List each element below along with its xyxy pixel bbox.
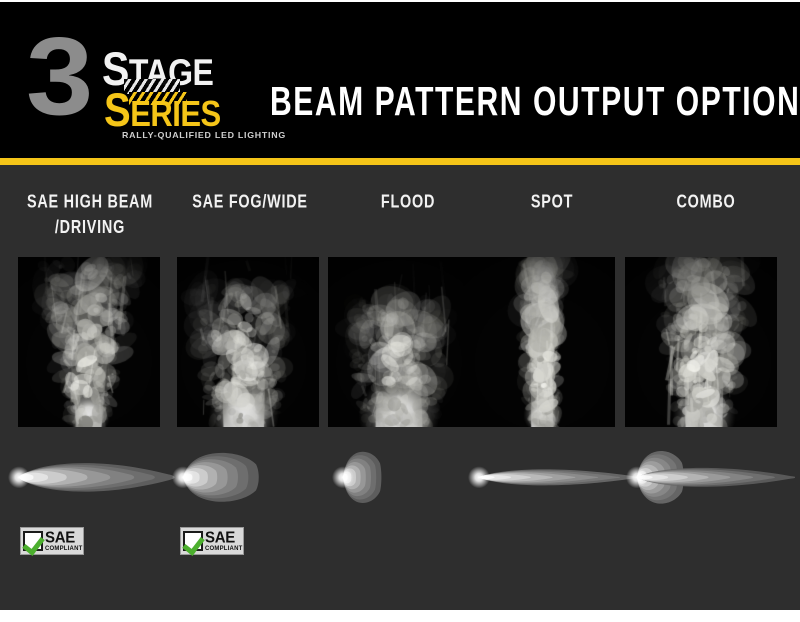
column-label: SAE FOG/WIDE	[173, 189, 327, 215]
checkmark-icon	[183, 531, 203, 551]
beam-pattern-diagram	[466, 443, 641, 509]
column-label: SAE HIGH BEAM/DRIVING	[13, 189, 167, 240]
logo-word-series: SERIES	[104, 87, 221, 134]
yellow-divider	[0, 158, 800, 165]
beam-column-sae-high-beam-driving: SAE HIGH BEAM/DRIVING SAE COMPLIANT	[10, 165, 170, 610]
body-area: SAE HIGH BEAM/DRIVING SAE COMPLIANT SAE …	[0, 165, 800, 610]
beam-column-combo: COMBO	[626, 165, 786, 610]
column-label: SPOT	[475, 189, 629, 215]
page-title: BEAM PATTERN OUTPUT OPTIONS	[270, 78, 774, 126]
sae-compliant-badge: SAE COMPLIANT	[180, 527, 244, 555]
sae-badge-text: SAE COMPLIANT	[205, 530, 242, 552]
sae-badge-subtitle: COMPLIANT	[205, 546, 242, 552]
beam-pattern-diagram	[4, 443, 179, 509]
beam-photo-thumbnail	[328, 257, 470, 427]
sae-badge-subtitle: COMPLIANT	[45, 546, 82, 552]
column-label: COMBO	[629, 189, 783, 215]
beam-pattern-diagram	[164, 443, 339, 509]
beam-photo-thumbnail	[463, 257, 615, 427]
column-label: FLOOD	[331, 189, 485, 215]
beam-photo-thumbnail	[625, 257, 777, 427]
beam-column-sae-fog-wide: SAE FOG/WIDE SAE COMPLIANT	[170, 165, 330, 610]
logo-tagline: RALLY-QUALIFIED LED LIGHTING	[122, 130, 286, 140]
logo-wordmark: STAGE SERIES RALLY-QUALIFIED LED LIGHTIN…	[102, 46, 252, 138]
sae-badge-title: SAE	[45, 530, 82, 546]
sae-badge-title: SAE	[205, 530, 242, 546]
sae-compliant-badge: SAE COMPLIANT	[20, 527, 84, 555]
header-band: 3 STAGE SERIES RALLY-QUALIFIED LED LIGHT…	[0, 2, 800, 158]
beam-columns: SAE HIGH BEAM/DRIVING SAE COMPLIANT SAE …	[0, 165, 800, 610]
beam-photo-thumbnail	[18, 257, 160, 427]
beam-pattern-diagram	[620, 443, 795, 509]
bottom-edge-strip	[0, 610, 800, 622]
checkmark-icon	[23, 531, 43, 551]
beam-photo-thumbnail	[177, 257, 319, 427]
beam-column-spot: SPOT	[472, 165, 632, 610]
beam-pattern-infographic: 3 STAGE SERIES RALLY-QUALIFIED LED LIGHT…	[0, 0, 800, 622]
stage-series-logo: 3 STAGE SERIES RALLY-QUALIFIED LED LIGHT…	[24, 24, 254, 136]
sae-badge-text: SAE COMPLIANT	[45, 530, 82, 552]
logo-numeral-3: 3	[26, 26, 87, 128]
